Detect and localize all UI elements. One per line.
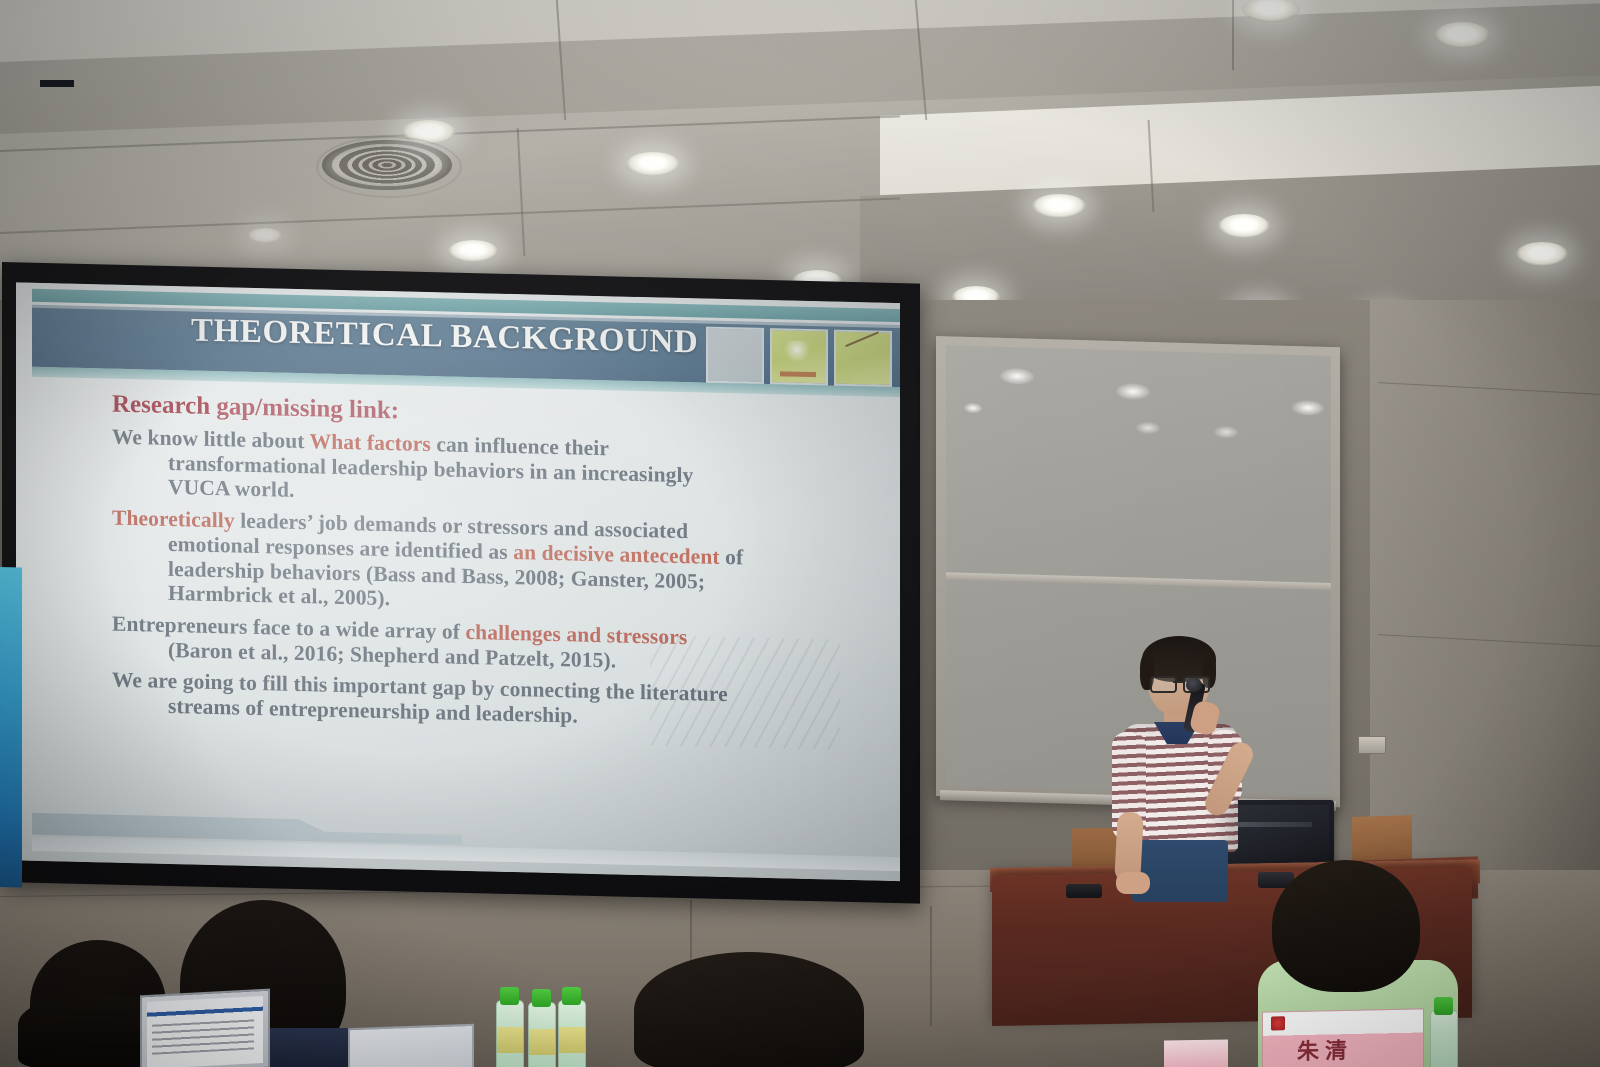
monitor-stand [40,80,74,87]
bullet-1-seg-2: can influence their [431,432,609,460]
bottle-label [559,1027,585,1053]
bottle-label [529,1029,555,1055]
bottle-cap [562,987,581,1005]
bullet-2-cont-0-c: of [720,545,744,570]
name-card-name: 朱清 [1297,1033,1353,1066]
remote-control[interactable] [1066,884,1102,898]
whiteboard-light-reflection [1136,422,1160,435]
ceiling-downlight [1032,194,1086,218]
glasses-bridge [1173,681,1183,683]
slide-watermark [650,635,840,749]
bottle-cap [532,989,551,1007]
name-card: 朱清 [1262,1008,1424,1067]
laptop[interactable] [348,1024,474,1067]
ceiling-downlight [626,152,680,176]
thumb-blank-icon [706,327,764,384]
presenter [1104,636,1254,896]
bullet-2-seg-0: Theoretically [112,506,235,533]
projection-screen: THEORETICAL BACKGROUND Research gap/miss… [2,262,920,904]
slide-bullet-1: We know little about What factors can in… [112,425,856,517]
lecture-room-photo: THEORETICAL BACKGROUND Research gap/miss… [0,0,1600,1067]
slide-heading-bold: Research [112,391,210,420]
slide-footer-strip [32,837,900,871]
laptop-screen-text [152,1019,254,1054]
name-card-logo-icon [1271,1016,1285,1030]
water-bottle[interactable] [528,1002,556,1067]
slide-heading-rest: gap/missing link: [210,393,399,424]
microphone-head-icon [1186,678,1202,692]
whiteboard-light-reflection [964,403,982,414]
whiteboard-light-reflection [1214,426,1238,439]
water-bottle[interactable] [1430,1010,1458,1067]
bullet-1-seg-1: What factors [310,429,431,456]
slide-bullet-2: Theoretically leaders’ job demands or st… [112,506,856,622]
ceiling-downlight [1516,242,1568,266]
side-banner [0,567,22,888]
bottle-label [497,1027,523,1053]
thumb-plant-icon [770,328,828,385]
water-bottle[interactable] [558,1000,586,1067]
air-diffuser-ring [316,136,462,198]
bullet-2-cont-0-b: an decisive antecedent [513,540,719,569]
presenter-jeans [1132,840,1228,902]
laptop[interactable] [140,989,270,1067]
thumb-leaf-icon [834,330,892,387]
bottle-cap [500,987,519,1005]
slide-canvas: THEORETICAL BACKGROUND Research gap/miss… [16,282,900,881]
ceiling-downlight [448,240,498,262]
slide-thumbnail-strip [706,327,892,387]
bottle-cap [1434,997,1453,1015]
ceiling-seam [1232,0,1234,70]
water-bottle[interactable] [496,1000,524,1067]
glasses-left-lens [1150,676,1177,693]
wall-seam [930,906,932,1026]
wall-switch[interactable] [1358,736,1386,754]
ceiling-downlight [248,228,282,243]
audience-head [634,952,864,1067]
projected-slide: THEORETICAL BACKGROUND Research gap/miss… [16,282,900,881]
audience-head [1272,860,1420,992]
presenter-left-hand [1116,872,1150,894]
ceiling-downlight [1218,214,1270,238]
name-card [1164,1039,1228,1067]
bullet-1-seg-0: We know little about [112,425,310,454]
ceiling-downlight [1434,22,1490,48]
